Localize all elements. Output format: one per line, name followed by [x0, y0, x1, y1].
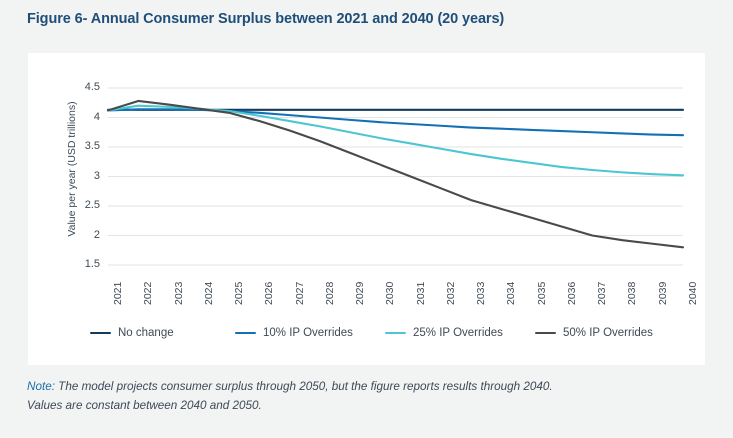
legend-item[interactable]: 25% IP Overrides [385, 325, 503, 341]
note-label: Note: [27, 380, 55, 393]
figure-note: Note: The model projects consumer surplu… [27, 378, 687, 415]
legend-swatch-icon [535, 332, 556, 335]
legend-label: 10% IP Overrides [263, 327, 353, 339]
figure-container: Figure 6- Annual Consumer Surplus betwee… [0, 0, 733, 438]
legend-item[interactable]: 50% IP Overrides [535, 325, 653, 341]
legend-swatch-icon [90, 332, 111, 335]
legend-item[interactable]: 10% IP Overrides [235, 325, 353, 341]
legend-label: 50% IP Overrides [563, 327, 653, 339]
plot-area-wrapper: Value per year (USD trillions) 1.522.533… [28, 53, 705, 365]
legend-item[interactable]: No change [90, 325, 174, 341]
note-line-1: The model projects consumer surplus thro… [55, 380, 553, 393]
note-line-2: Values are constant between 2040 and 205… [27, 399, 262, 412]
series-line [108, 109, 683, 135]
chart-card: Value per year (USD trillions) 1.522.533… [28, 53, 705, 365]
legend-label: No change [118, 327, 174, 339]
series-line [108, 106, 683, 176]
legend-label: 25% IP Overrides [413, 327, 503, 339]
line-chart-svg [28, 53, 705, 365]
chart-legend: No change10% IP Overrides25% IP Override… [90, 325, 690, 345]
legend-swatch-icon [385, 332, 406, 335]
page-title: Figure 6- Annual Consumer Surplus betwee… [27, 9, 707, 29]
legend-swatch-icon [235, 332, 256, 335]
